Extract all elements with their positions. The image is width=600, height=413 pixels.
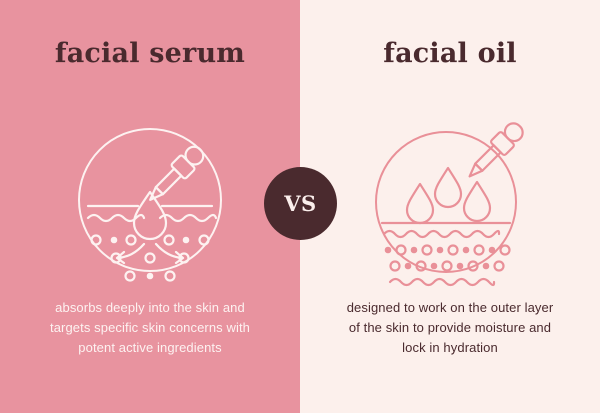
- caption-right-line-3: lock in hydration: [300, 338, 600, 358]
- caption-left-line-2: targets specific skin concerns with: [0, 318, 300, 338]
- comparison-infographic: facial serum: [0, 0, 600, 413]
- caption-left: absorbs deeply into the skin and targets…: [0, 298, 300, 358]
- oil-on-skin-surface-icon: [300, 110, 600, 290]
- panel-facial-serum: facial serum: [0, 0, 300, 413]
- caption-left-line-1: absorbs deeply into the skin and: [0, 298, 300, 318]
- caption-right-line-1: designed to work on the outer layer: [300, 298, 600, 318]
- caption-right-line-2: of the skin to provide moisture and: [300, 318, 600, 338]
- caption-left-line-3: potent active ingredients: [0, 338, 300, 358]
- page-title-right: facial oil: [300, 38, 600, 69]
- vs-badge: VS: [264, 167, 337, 240]
- vs-label: VS: [284, 193, 316, 214]
- caption-right: designed to work on the outer layer of t…: [300, 298, 600, 358]
- serum-absorbing-into-skin-icon: [0, 110, 300, 290]
- page-title-left: facial serum: [0, 38, 300, 69]
- panel-facial-oil: facial oil: [300, 0, 600, 413]
